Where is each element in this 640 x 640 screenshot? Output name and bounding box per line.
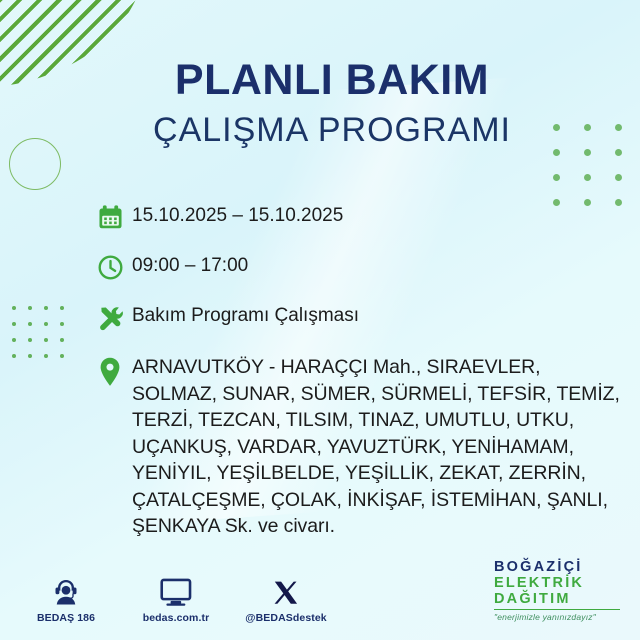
maintenance-details: 15.10.2025 – 15.10.2025 09:00 – 17:00 <box>88 203 628 540</box>
company-logo: BOĞAZİÇİ ELEKTRİK DAĞITIM "enerjimizle y… <box>494 559 626 623</box>
page-title-primary: PLANLI BAKIM <box>0 56 640 104</box>
brand-divider <box>494 609 620 611</box>
planned-maintenance-poster: PLANLI BAKIM ÇALIŞMA PROGRAMI 15.10.2025… <box>0 0 640 640</box>
dot-grid-left-decoration <box>12 306 76 370</box>
clock-icon <box>88 253 132 281</box>
contact-website-label: bedas.com.tr <box>134 612 218 624</box>
contact-website[interactable]: bedas.com.tr <box>134 573 218 624</box>
contact-call-center-label: BEDAŞ 186 <box>24 612 108 624</box>
detail-row-date: 15.10.2025 – 15.10.2025 <box>88 203 628 231</box>
x-twitter-icon <box>244 573 328 607</box>
calendar-icon <box>88 203 132 231</box>
contact-social-x[interactable]: @BEDASdestek <box>244 573 328 624</box>
detail-row-time: 09:00 – 17:00 <box>88 253 628 281</box>
maintenance-date-range: 15.10.2025 – 15.10.2025 <box>132 203 343 229</box>
maintenance-work-type: Bakım Programı Çalışması <box>132 303 359 329</box>
brand-line-dagitim: DAĞITIM <box>494 591 626 607</box>
page-title-secondary: ÇALIŞMA PROGRAMI <box>0 110 640 150</box>
tools-icon <box>88 303 132 332</box>
map-pin-icon <box>88 354 132 387</box>
monitor-icon <box>134 573 218 607</box>
poster-footer: BEDAŞ 186 bedas.com.tr <box>0 566 640 628</box>
brand-tagline: "enerjimizle yanınızdayız" <box>494 612 626 622</box>
detail-row-work-type: Bakım Programı Çalışması <box>88 303 628 332</box>
brand-line-elektrik: ELEKTRİK <box>494 575 626 591</box>
poster-header: PLANLI BAKIM ÇALIŞMA PROGRAMI <box>0 56 640 150</box>
maintenance-location: ARNAVUTKÖY - HARAÇÇI Mah., SIRAEVLER, SO… <box>132 354 628 540</box>
detail-row-location: ARNAVUTKÖY - HARAÇÇI Mah., SIRAEVLER, SO… <box>88 354 628 540</box>
contact-social-x-label: @BEDASdestek <box>244 612 328 624</box>
contact-call-center[interactable]: BEDAŞ 186 <box>24 573 108 624</box>
support-headset-icon <box>24 573 108 607</box>
maintenance-time-range: 09:00 – 17:00 <box>132 253 248 279</box>
contact-channels: BEDAŞ 186 bedas.com.tr <box>24 573 328 624</box>
brand-line-bogazici: BOĞAZİÇİ <box>494 559 626 575</box>
